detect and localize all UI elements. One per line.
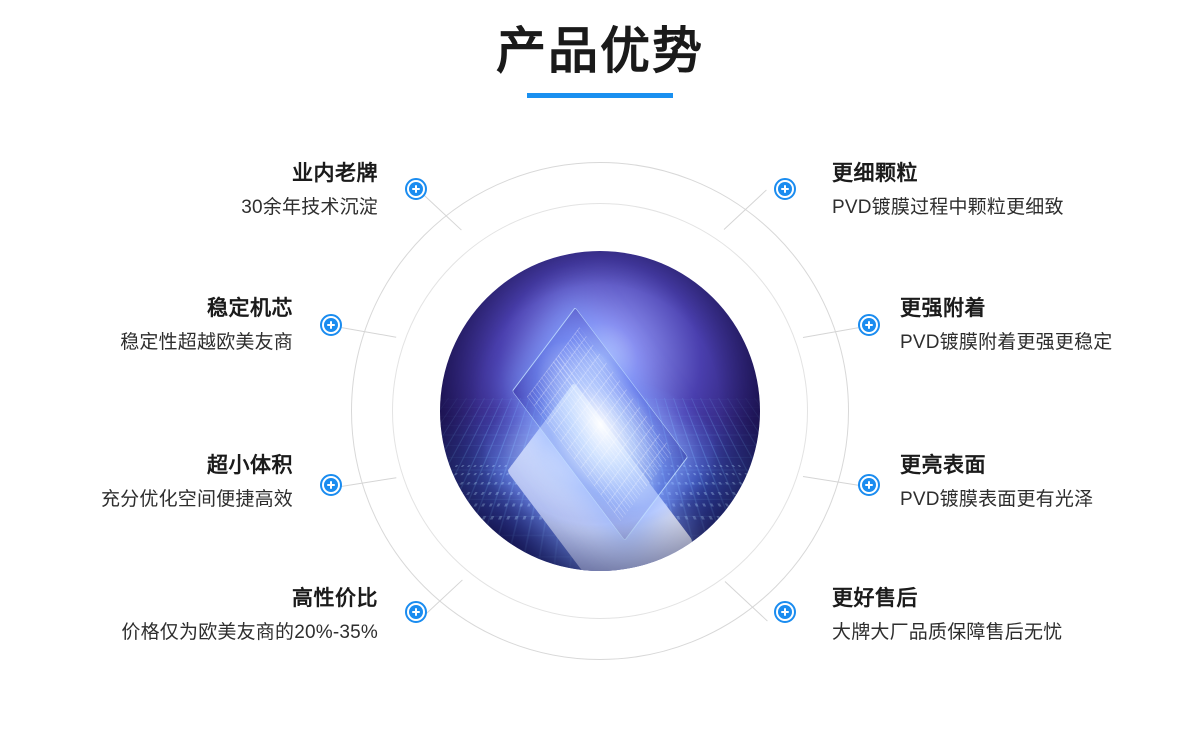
- plus-circle-icon: [409, 182, 423, 196]
- feature-desc: 充分优化空间便捷高效: [0, 487, 293, 513]
- chip-image: [440, 251, 760, 571]
- plus-circle-icon: [862, 478, 876, 492]
- feature-desc: 30余年技术沉淀: [0, 195, 378, 221]
- plus-circle-icon: [324, 478, 338, 492]
- feature-left-1: 业内老牌 30余年技术沉淀: [0, 160, 378, 221]
- product-advantages-infographic: 产品优势: [0, 0, 1200, 750]
- plus-circle-icon: [409, 605, 423, 619]
- plus-circle-icon: [778, 182, 792, 196]
- plus-circle-icon: [862, 318, 876, 332]
- feature-title: 超小体积: [0, 452, 293, 479]
- feature-right-2: 更强附着 PVD镀膜附着更强更稳定: [900, 295, 1200, 356]
- feature-desc: PVD镀膜附着更强更稳定: [900, 330, 1200, 356]
- feature-left-4: 高性价比 价格仅为欧美友商的20%-35%: [0, 585, 378, 646]
- feature-title: 高性价比: [0, 585, 378, 612]
- marker-left-2[interactable]: [320, 314, 342, 336]
- feature-title: 更亮表面: [900, 452, 1200, 479]
- feature-desc: 价格仅为欧美友商的20%-35%: [0, 620, 378, 646]
- feature-title: 更好售后: [832, 585, 1200, 612]
- feature-right-1: 更细颗粒 PVD镀膜过程中颗粒更细致: [832, 160, 1200, 221]
- marker-left-3[interactable]: [320, 474, 342, 496]
- feature-title: 业内老牌: [0, 160, 378, 187]
- marker-right-1[interactable]: [774, 178, 796, 200]
- feature-left-3: 超小体积 充分优化空间便捷高效: [0, 452, 293, 513]
- feature-desc: 大牌大厂品质保障售后无忧: [832, 620, 1200, 646]
- marker-left-1[interactable]: [405, 178, 427, 200]
- marker-right-4[interactable]: [774, 601, 796, 623]
- marker-left-4[interactable]: [405, 601, 427, 623]
- image-vignette: [440, 251, 760, 571]
- feature-title: 更强附着: [900, 295, 1200, 322]
- feature-desc: PVD镀膜过程中颗粒更细致: [832, 195, 1200, 221]
- feature-right-4: 更好售后 大牌大厂品质保障售后无忧: [832, 585, 1200, 646]
- plus-circle-icon: [778, 605, 792, 619]
- feature-right-3: 更亮表面 PVD镀膜表面更有光泽: [900, 452, 1200, 513]
- feature-desc: PVD镀膜表面更有光泽: [900, 487, 1200, 513]
- feature-desc: 稳定性超越欧美友商: [0, 330, 293, 356]
- feature-left-2: 稳定机芯 稳定性超越欧美友商: [0, 295, 293, 356]
- plus-circle-icon: [324, 318, 338, 332]
- marker-right-2[interactable]: [858, 314, 880, 336]
- marker-right-3[interactable]: [858, 474, 880, 496]
- feature-title: 更细颗粒: [832, 160, 1200, 187]
- feature-title: 稳定机芯: [0, 295, 293, 322]
